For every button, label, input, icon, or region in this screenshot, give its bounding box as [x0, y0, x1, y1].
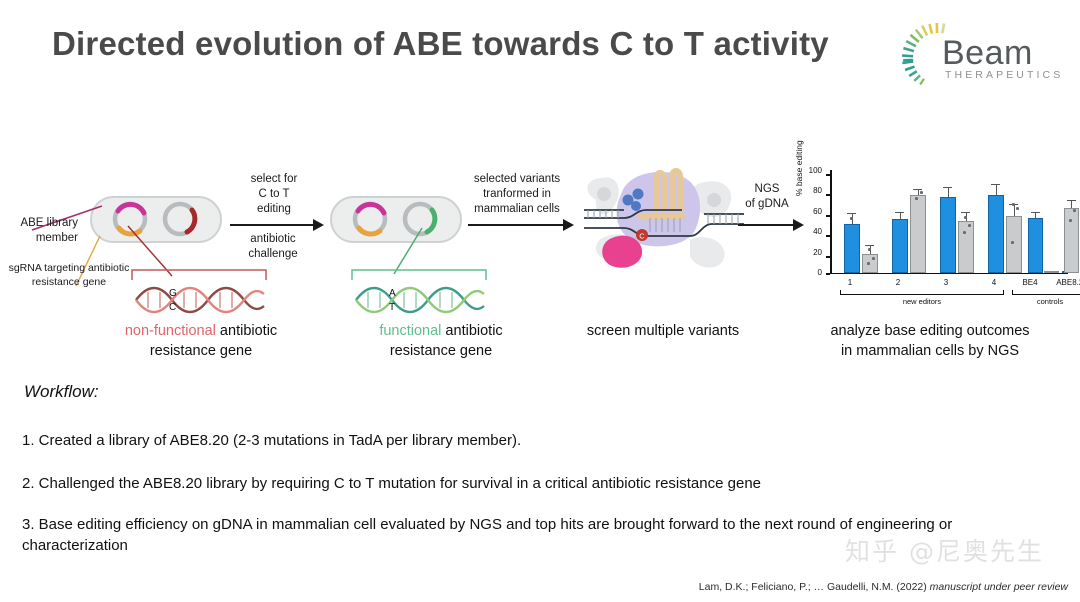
workflow-item-3: 3. Base editing efficiency on gDNA in ma…: [22, 514, 1062, 557]
datapoint: [964, 216, 967, 219]
errcap-2-gray: [913, 189, 922, 190]
caption-analyze-line1: analyze base editing outcomes: [830, 323, 1029, 339]
bracket-new-editors: [840, 290, 1004, 295]
y-tick-40: 40: [802, 227, 822, 236]
workflow-item-2: 2. Challenged the ABE8.20 library by req…: [22, 473, 1052, 494]
svg-text:C: C: [639, 232, 645, 241]
y-tickmark-80: [826, 194, 830, 196]
logo-wordmark: Beam: [942, 36, 1033, 70]
arrow2-top-label: selected variants tranformed in mammalia…: [462, 172, 572, 218]
x-label-be4: BE4: [1010, 278, 1050, 287]
datapoint: [968, 224, 971, 227]
caption-nonfunctional-emphasis: non-functional: [125, 323, 216, 339]
y-tick-60: 60: [802, 207, 822, 216]
y-tickmark-20: [826, 256, 830, 258]
x-label-3: 3: [934, 278, 958, 287]
errbar-2-blue: [900, 213, 901, 219]
base-editing-bar-chart: % base editing 100 80 60 40 20 0: [798, 166, 1070, 316]
arrow-2-head: [563, 219, 574, 231]
logo-tagline: THERAPEUTICS: [945, 70, 1063, 81]
citation-plain: Lam, D.K.; Feliciano, P.; … Gaudelli, N.…: [699, 581, 930, 593]
y-tick-20: 20: [802, 248, 822, 257]
errbar-abe820-gray: [1071, 201, 1072, 208]
datapoint: [963, 231, 966, 234]
errcap-3-blue: [943, 187, 952, 188]
bar-be4-gray: [1044, 271, 1059, 273]
y-tickmark-100: [826, 174, 830, 176]
errcap-abe820-gray: [1067, 200, 1076, 201]
bar-abe820-gray: [1064, 208, 1079, 273]
citation-footer: Lam, D.K.; Feliciano, P.; … Gaudelli, N.…: [699, 581, 1068, 593]
datapoint: [1012, 203, 1015, 206]
caption-functional-emphasis: functional: [379, 323, 441, 339]
y-tickmark-0: [826, 273, 830, 275]
dna-helix-nonfunctional: G C: [128, 266, 270, 318]
label-abe-library-member: ABE library member: [0, 216, 78, 246]
errbar-4-blue: [996, 185, 997, 195]
arrow3-top-label: NGS of gDNA: [736, 182, 798, 212]
caption-functional-rest: antibiotic: [441, 323, 502, 339]
beam-logo: Beam THERAPEUTICS: [898, 14, 1048, 92]
bracket-controls: [1012, 290, 1080, 295]
errcap-be4-blue: [1031, 212, 1040, 213]
bar-2-gray: [910, 195, 926, 273]
arrow1-bottom-label: antibiotic challenge: [230, 232, 316, 262]
datapoint: [915, 197, 918, 200]
datapoint: [920, 191, 923, 194]
errbar-be4-blue: [1035, 213, 1036, 218]
caption-nonfunctional-rest: antibiotic: [216, 323, 277, 339]
errcap-4-blue: [991, 184, 1000, 185]
errcap-1-gray: [865, 245, 874, 246]
errbar-3-blue: [948, 188, 949, 197]
svg-text:A: A: [389, 288, 396, 299]
caption-analyze-line2: in mammalian cells by NGS: [841, 343, 1019, 359]
arrow-3-line: [738, 224, 794, 226]
page-title: Directed evolution of ABE towards C to T…: [52, 22, 842, 66]
workflow-item-1: 1. Created a library of ABE8.20 (2-3 mut…: [22, 430, 1052, 451]
slide-canvas: Directed evolution of ABE towards C to T…: [0, 0, 1080, 602]
svg-text:T: T: [389, 302, 395, 313]
datapoint: [868, 248, 871, 251]
y-tickmark-40: [826, 235, 830, 237]
y-tick-0: 0: [802, 268, 822, 277]
x-label-1: 1: [838, 278, 862, 287]
y-tickmark-60: [826, 215, 830, 217]
caption-analyze-outcomes: analyze base editing outcomes in mammali…: [790, 322, 1070, 361]
arrow-1-head: [313, 219, 324, 231]
svg-text:G: G: [169, 288, 177, 299]
bar-be4-blue: [1028, 218, 1043, 273]
x-label-4: 4: [982, 278, 1006, 287]
citation-italic: manuscript under peer review: [930, 581, 1068, 593]
base-editor-illustration: C: [578, 162, 748, 282]
chart-y-axis: [830, 170, 832, 274]
datapoint: [1069, 219, 1072, 222]
bar-3-blue: [940, 197, 956, 273]
errbar-4-gray: [1014, 205, 1015, 216]
errbar-2-gray: [918, 190, 919, 195]
datapoint: [867, 262, 870, 265]
bar-1-blue: [844, 224, 860, 273]
x-label-2: 2: [886, 278, 910, 287]
errcap-2-blue: [895, 212, 904, 213]
caption-nonfunctional-gene: non-functional antibiotic resistance gen…: [98, 322, 304, 361]
errcap-3-gray: [961, 212, 970, 213]
datapoint: [850, 217, 853, 220]
arrow1-top-label: select for C to T editing: [232, 172, 316, 218]
chart-x-axis: [830, 273, 1068, 275]
workflow-heading: Workflow:: [24, 382, 99, 402]
bar-1-gray: [862, 254, 878, 273]
datapoint: [1073, 209, 1076, 212]
group-label-new-editors: new editors: [840, 297, 1004, 306]
bar-4-blue: [988, 195, 1004, 273]
bar-4-gray: [1006, 216, 1022, 273]
arrow-1-line: [230, 224, 314, 226]
dna-helix-functional: A T: [348, 266, 490, 318]
arrow-2-line: [468, 224, 564, 226]
caption-functional-line2: resistance gene: [390, 343, 492, 359]
chart-plot-area: [830, 170, 1068, 274]
datapoint: [872, 257, 875, 260]
y-tick-80: 80: [802, 186, 822, 195]
bar-3-gray: [958, 221, 974, 273]
x-label-abe820: ABE8.20: [1048, 278, 1080, 287]
datapoint: [1016, 207, 1019, 210]
caption-screen-variants: screen multiple variants: [558, 322, 768, 342]
bar-2-blue: [892, 219, 908, 273]
caption-functional-gene: functional antibiotic resistance gene: [338, 322, 544, 361]
svg-text:C: C: [169, 302, 176, 313]
caption-nonfunctional-line2: resistance gene: [150, 343, 252, 359]
errcap-1-blue: [847, 213, 856, 214]
y-tick-100: 100: [802, 166, 822, 175]
datapoint: [1011, 241, 1014, 244]
label-sgrna-targeting: sgRNA targeting antibiotic resistance ge…: [2, 262, 136, 290]
group-label-controls: controls: [1012, 297, 1080, 306]
